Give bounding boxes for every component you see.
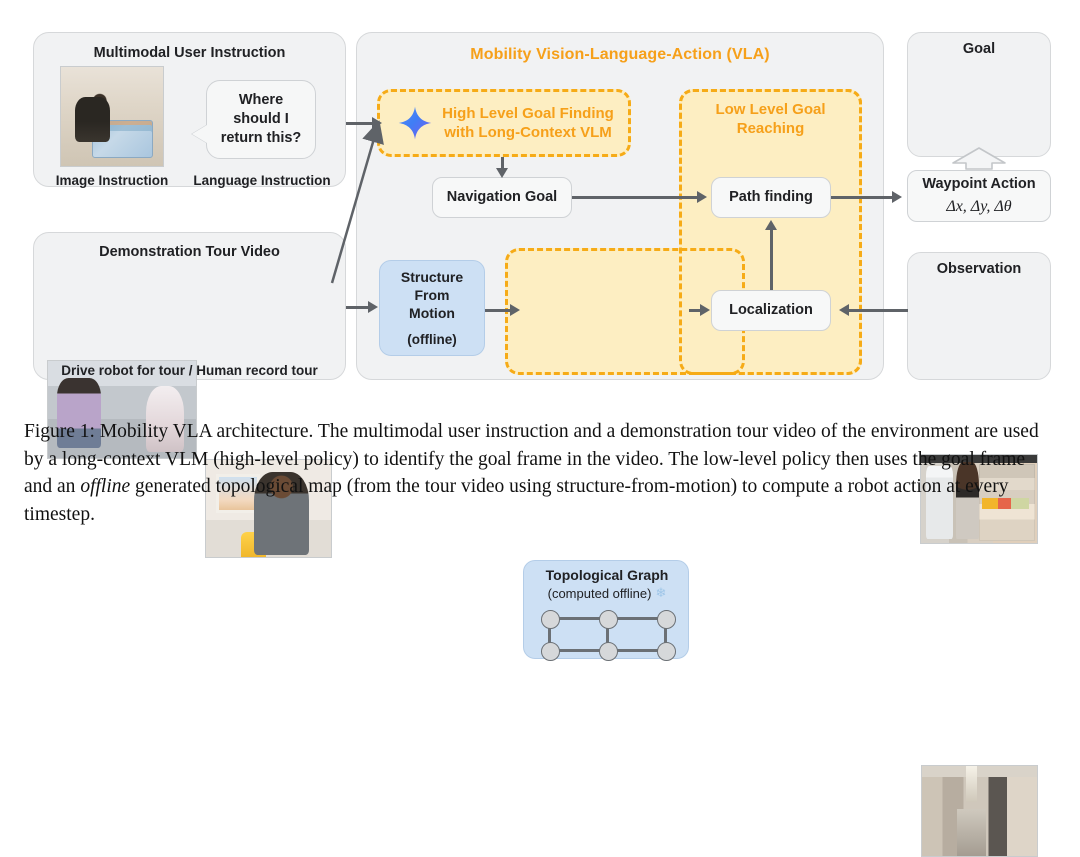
sfm-subtitle: (offline)	[407, 331, 457, 349]
image-instruction-thumbnail	[60, 66, 164, 167]
goal-title: Goal	[908, 41, 1050, 57]
arrow-highlevel-to-navgoal-head	[496, 168, 508, 178]
arrow-tour-to-sfm-line	[346, 306, 370, 309]
arrow-tour-to-highlevel	[330, 115, 392, 285]
localization-box: Localization	[711, 290, 831, 331]
waypoint-action-box: Waypoint Action Δx, Δy, Δθ	[907, 170, 1051, 222]
instruction-panel-title: Multimodal User Instruction	[34, 45, 345, 61]
topological-graph-subtitle-row: (computed offline) ❄	[524, 585, 690, 601]
arrow-localization-to-pathfinding-head	[765, 220, 777, 230]
navigation-goal-box: Navigation Goal	[432, 177, 572, 218]
arrow-topo-to-localization-head	[700, 304, 710, 316]
arrow-pathfinding-to-waypoint-line	[831, 196, 893, 199]
topo-node	[657, 610, 676, 629]
language-instruction-label: Language Instruction	[186, 173, 338, 188]
waypoint-action-values: Δx, Δy, Δθ	[946, 197, 1011, 217]
topological-graph-subtitle: (computed offline)	[548, 586, 652, 601]
arrow-tour-to-sfm-head	[368, 301, 378, 313]
arrow-sfm-to-topo-head	[510, 304, 520, 316]
bubble-tail-icon	[192, 125, 207, 143]
arrow-navgoal-to-pathfinding-line	[572, 196, 698, 199]
image-instruction-label: Image Instruction	[40, 173, 184, 188]
topological-graph-box: Topological Graph (computed offline) ❄	[523, 560, 689, 659]
arrow-observation-to-localization-line	[848, 309, 908, 312]
caption-text-2: generated topological map (from the tour…	[24, 476, 1008, 525]
observation-title: Observation	[908, 261, 1050, 277]
instruction-bin	[92, 120, 153, 158]
language-instruction-bubble: Where should I return this?	[206, 80, 316, 159]
caption-prefix: Figure 1:	[24, 421, 95, 442]
arrow-waypoint-to-goal-hollow-icon	[949, 146, 1009, 170]
topo-node	[599, 610, 618, 629]
figure-caption: Figure 1: Mobility VLA architecture. The…	[24, 418, 1058, 529]
arrow-pathfinding-to-waypoint-head	[892, 191, 902, 203]
topo-node	[541, 610, 560, 629]
arrow-sfm-to-topo-line	[485, 309, 513, 312]
demonstration-tour-video-panel: Demonstration Tour Video	[33, 232, 346, 380]
structure-from-motion-box: Structure From Motion (offline)	[379, 260, 485, 356]
topo-node	[657, 642, 676, 661]
high-level-goal-finding-label: High Level Goal Finding with Long-Contex…	[435, 105, 621, 143]
goal-panel: Goal	[907, 32, 1051, 157]
arrow-localization-to-pathfinding-line	[770, 228, 773, 290]
sfm-title: Structure From Motion	[401, 268, 463, 323]
tour-panel-title: Demonstration Tour Video	[34, 244, 345, 260]
gemini-sparkle-icon	[398, 106, 432, 140]
tour-video-caption: Drive robot for tour / Human record tour	[33, 363, 346, 378]
topo-node	[599, 642, 618, 661]
topo-node	[541, 642, 560, 661]
observation-panel: Observation	[907, 252, 1051, 380]
arrow-navgoal-to-pathfinding-head	[697, 191, 707, 203]
snowflake-icon: ❄	[655, 585, 666, 601]
vla-panel-title: Mobility Vision-Language-Action (VLA)	[357, 46, 883, 64]
topological-graph-title: Topological Graph	[524, 567, 690, 583]
arrow-observation-to-localization-head	[839, 304, 849, 316]
caption-italic: offline	[80, 476, 130, 497]
figure-root: Multimodal User Instruction Image Instru…	[0, 0, 1080, 553]
tour-chair	[241, 532, 266, 557]
observation-image	[921, 765, 1038, 857]
waypoint-action-title: Waypoint Action	[922, 175, 1035, 193]
path-finding-box: Path finding	[711, 177, 831, 218]
